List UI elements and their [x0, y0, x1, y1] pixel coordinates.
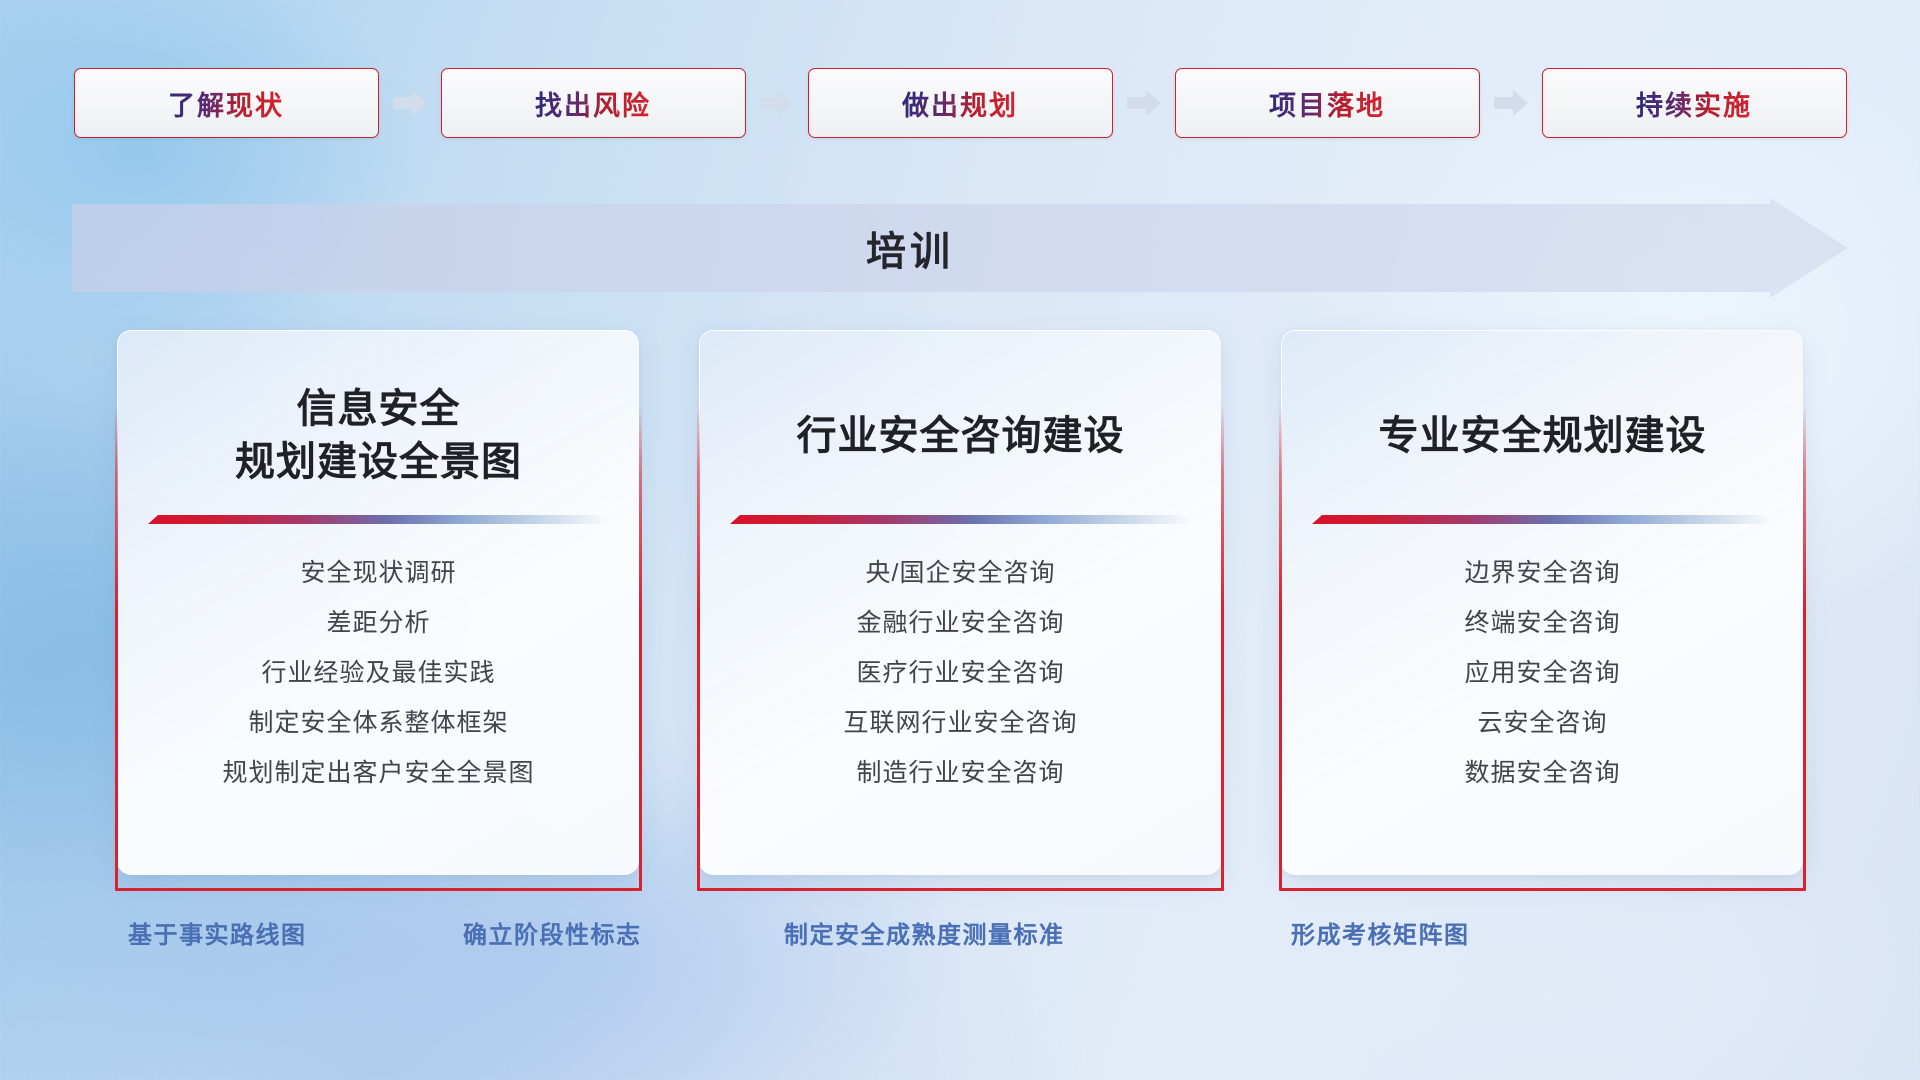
- caption-2: 确立阶段性标志: [463, 915, 642, 950]
- list-item: 边界安全咨询: [1464, 558, 1620, 588]
- step-box-4[interactable]: 项目落地: [1175, 68, 1480, 138]
- step-box-3[interactable]: 做出规划: [808, 68, 1113, 138]
- card-accent-rail-right: [1221, 405, 1224, 891]
- step-label: 项目落地: [1269, 84, 1385, 123]
- card-3[interactable]: 专业安全规划建设 边界安全咨询 终端安全咨询 应用安全咨询 云安全咨询 数据安全…: [1281, 330, 1803, 875]
- list-item: 终端安全咨询: [1464, 608, 1620, 638]
- step-label: 持续实施: [1636, 84, 1752, 123]
- list-item: 云安全咨询: [1477, 708, 1607, 738]
- step-arrow-icon-1: [379, 68, 441, 138]
- card-accent-rail-left: [1279, 405, 1282, 891]
- card-title: 专业安全规划建设: [1312, 383, 1773, 489]
- card-item-list: 边界安全咨询 终端安全咨询 应用安全咨询 云安全咨询 数据安全咨询: [1312, 558, 1773, 788]
- step-label: 找出风险: [535, 84, 651, 123]
- card-title-line-1: 专业安全规划建设: [1312, 410, 1773, 463]
- card-item-list: 央/国企安全咨询 金融行业安全咨询 医疗行业安全咨询 互联网行业安全咨询 制造行…: [730, 558, 1191, 788]
- list-item: 差距分析: [326, 608, 430, 638]
- step-arrow-icon-2: [746, 68, 808, 138]
- card-2[interactable]: 行业安全咨询建设 央/国企安全咨询 金融行业安全咨询 医疗行业安全咨询 互联网行…: [699, 330, 1221, 875]
- list-item: 金融行业安全咨询: [856, 608, 1064, 638]
- training-banner: 培训: [72, 198, 1848, 298]
- step-arrow-icon-3: [1113, 68, 1175, 138]
- caption-1: 基于事实路线图: [128, 915, 307, 950]
- card-title-line-1: 信息安全: [148, 383, 609, 436]
- step-box-2[interactable]: 找出风险: [441, 68, 746, 138]
- card-accent-rail-bottom: [697, 888, 1224, 891]
- list-item: 应用安全咨询: [1464, 658, 1620, 688]
- step-label: 了解现状: [168, 84, 284, 123]
- list-item: 制定安全体系整体框架: [248, 708, 508, 738]
- card-divider: [730, 515, 1191, 524]
- background-glow-left-top: [0, 0, 420, 360]
- step-box-1[interactable]: 了解现状: [74, 68, 379, 138]
- caption-3: 制定安全成熟度测量标准: [784, 915, 1065, 950]
- list-item: 规划制定出客户安全全景图: [222, 758, 534, 788]
- card-accent-rail-right: [1803, 405, 1806, 891]
- step-label: 做出规划: [902, 84, 1018, 123]
- list-item: 互联网行业安全咨询: [843, 708, 1077, 738]
- banner-label: 培训: [72, 198, 1848, 298]
- card-accent-rail-bottom: [1279, 888, 1806, 891]
- card-accent-rail-left: [115, 405, 118, 891]
- card-row: 信息安全 规划建设全景图 安全现状调研 差距分析 行业经验及最佳实践 制定安全体…: [0, 330, 1920, 875]
- list-item: 医疗行业安全咨询: [856, 658, 1064, 688]
- list-item: 数据安全咨询: [1464, 758, 1620, 788]
- list-item: 央/国企安全咨询: [866, 558, 1056, 588]
- step-arrow-icon-4: [1480, 68, 1542, 138]
- card-1[interactable]: 信息安全 规划建设全景图 安全现状调研 差距分析 行业经验及最佳实践 制定安全体…: [117, 330, 639, 875]
- card-item-list: 安全现状调研 差距分析 行业经验及最佳实践 制定安全体系整体框架 规划制定出客户…: [148, 558, 609, 788]
- caption-row: 基于事实路线图 确立阶段性标志 制定安全成熟度测量标准 形成考核矩阵图: [0, 915, 1920, 959]
- caption-4: 形成考核矩阵图: [1291, 915, 1470, 950]
- card-accent-rail-right: [639, 405, 642, 891]
- card-title-line-2: 规划建设全景图: [148, 436, 609, 489]
- card-accent-rail-left: [697, 405, 700, 891]
- list-item: 安全现状调研: [300, 558, 456, 588]
- list-item: 制造行业安全咨询: [856, 758, 1064, 788]
- card-accent-rail-bottom: [115, 888, 642, 891]
- card-title: 信息安全 规划建设全景图: [148, 383, 609, 489]
- card-divider: [148, 515, 609, 524]
- card-title: 行业安全咨询建设: [730, 383, 1191, 489]
- card-title-line-1: 行业安全咨询建设: [730, 410, 1191, 463]
- list-item: 行业经验及最佳实践: [261, 658, 495, 688]
- card-divider: [1312, 515, 1773, 524]
- step-box-5[interactable]: 持续实施: [1542, 68, 1847, 138]
- process-step-flow: 了解现状 找出风险 做出规划 项目落地 持续实施: [0, 68, 1920, 138]
